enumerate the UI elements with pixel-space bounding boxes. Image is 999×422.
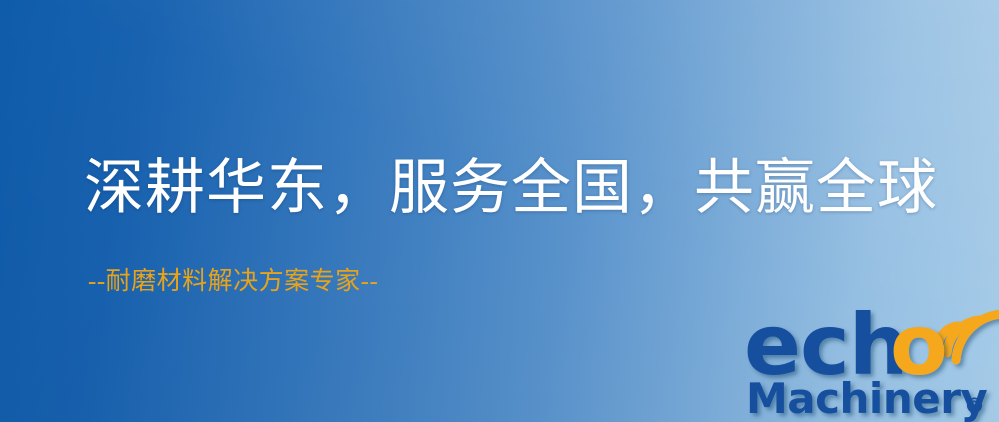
logo-trademark-symbol: ® <box>964 394 985 418</box>
promo-banner: 深耕华东，服务全国，共赢全球 --耐磨材料解决方案专家-- ech o <box>0 0 999 422</box>
echo-machinery-logo: ech o Machinery ® <box>742 292 999 422</box>
page-title: 深耕华东，服务全国，共赢全球 <box>84 152 938 224</box>
logo-machinery-text: Machinery <box>746 374 987 422</box>
page-subtitle: --耐磨材料解决方案专家-- <box>88 266 378 298</box>
